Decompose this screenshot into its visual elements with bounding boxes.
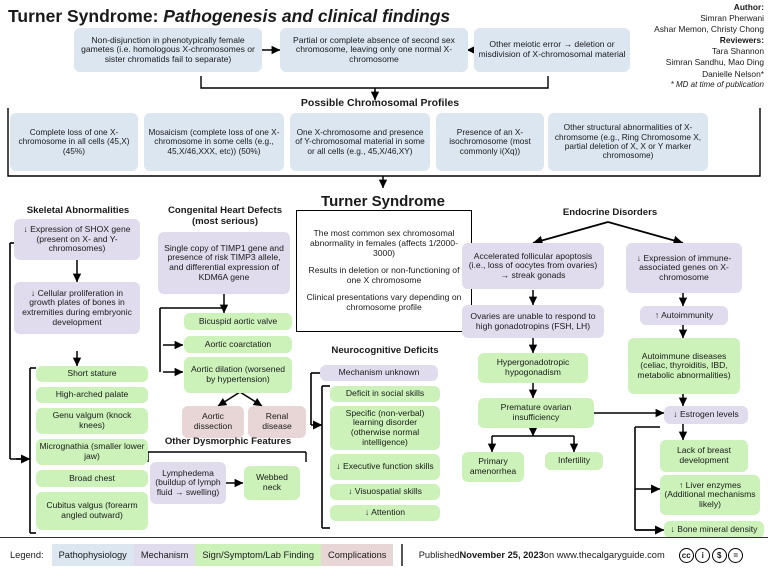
legend-bar: Legend: Pathophysiology Mechanism Sign/S… xyxy=(0,537,768,577)
cc-by-icon: i xyxy=(695,548,710,563)
reviewer-2: Simran Sandhu, Mao Ding xyxy=(654,57,764,68)
endocrine-mech-gonadotropin-response: Ovaries are unable to respond to high go… xyxy=(462,305,604,338)
cc-sa-icon: = xyxy=(728,548,743,563)
page-title: Turner Syndrome: Pathogenesis and clinic… xyxy=(8,6,450,27)
cardiac-complication-renal-text: Renal disease xyxy=(251,412,303,431)
published-suffix: on www.thecalgaryguide.com xyxy=(544,550,665,560)
center-line-3: Clinical presentations vary depending on… xyxy=(304,293,464,312)
endocrine-sign-bone-mineral-density: ↓ Bone mineral density xyxy=(664,521,764,538)
neuro-mech-unknown-text: Mechanism unknown xyxy=(339,368,420,378)
endocrine-sign-infertility: Infertility xyxy=(545,452,603,470)
skeletal-sign-broad-chest-text: Broad chest xyxy=(69,474,115,484)
endocrine-sign-hypergonadotropic-text: Hypergonadotropic hypogonadism xyxy=(481,358,585,377)
neuro-sign-attention-text: ↓ Attention xyxy=(365,508,405,518)
author-2: Ashar Memon, Christy Chong xyxy=(654,24,764,35)
cardiac-heading-line1: Congenital Heart Defects xyxy=(152,205,298,216)
legend-item-complications-text: Complications xyxy=(328,550,386,560)
legend-item-pathophysiology: Pathophysiology xyxy=(52,544,134,566)
reviewer-3: Danielle Nelson* xyxy=(654,69,764,80)
skeletal-sign-broad-chest: Broad chest xyxy=(36,470,148,487)
endocrine-sign-premature-ovarian-insufficiency: Premature ovarian insufficiency xyxy=(478,398,594,428)
skeletal-mech-proliferation-text: ↓ Cellular proliferation in growth plate… xyxy=(17,289,137,328)
endocrine-sign-autoimmune-diseases: Autoimmune diseases (celiac, thyroiditis… xyxy=(628,338,740,394)
skeletal-sign-palate: High-arched palate xyxy=(36,387,148,403)
profile-box-4-text: Presence of an X- isochromosome (most co… xyxy=(439,128,541,156)
legend-item-pathophysiology-text: Pathophysiology xyxy=(59,550,127,560)
endocrine-mech-estrogen-levels-text: ↓ Estrogen levels xyxy=(673,410,738,420)
etiology-box-absence-text: Partial or complete absence of second se… xyxy=(283,36,465,65)
legend-row: Legend: Pathophysiology Mechanism Sign/S… xyxy=(0,544,768,566)
cardiac-sign-coarctation-text: Aortic coarctation xyxy=(205,340,271,350)
endocrine-sign-liver-enzymes-text: ↑ Liver enzymes (Additional mechanisms l… xyxy=(663,481,757,510)
endocrine-mech-autoimmunity: ↑ Autoimmunity xyxy=(640,306,728,325)
profiles-heading: Possible Chromosomal Profiles xyxy=(260,97,500,109)
endocrine-sign-breast-development: Lack of breast development xyxy=(660,440,748,472)
profile-box-2-text: Mosaicism (complete loss of one X-chromo… xyxy=(147,128,281,156)
cardiac-mech-timp-text: Single copy of TIMP1 gene and presence o… xyxy=(161,244,287,283)
author-label: Author: xyxy=(734,2,764,12)
etiology-box-meiotic-error: Other meiotic error → deletion or misdiv… xyxy=(474,28,630,72)
neuro-sign-visuospatial: ↓ Visuospatial skills xyxy=(330,484,440,500)
cardiac-sign-bicuspid-valve-text: Bicuspid aortic valve xyxy=(199,317,277,327)
author-1: Simran Pherwani xyxy=(654,13,764,24)
etiology-box-absence: Partial or complete absence of second se… xyxy=(280,28,468,72)
neuro-sign-executive-function: ↓ Executive function skills xyxy=(330,454,440,480)
creative-commons-badge[interactable]: cc i $ = xyxy=(679,544,744,566)
cardiac-heading-line2: (most serious) xyxy=(152,216,298,227)
endocrine-mech-immune-genes: ↓ Expression of immune-associated genes … xyxy=(626,243,742,293)
cardiac-mech-timp: Single copy of TIMP1 gene and presence o… xyxy=(158,232,290,294)
published-prefix: Published xyxy=(419,550,460,560)
cardiac-complication-dissection: Aortic dissection xyxy=(182,406,244,438)
endocrine-sign-infertility-text: Infertility xyxy=(558,456,590,466)
profile-box-3-text: One X-chromosome and presence of Y-chrom… xyxy=(293,128,427,156)
etiology-box-nondisjunction-text: Non-disjunction in phenotypically female… xyxy=(77,36,259,65)
etiology-box-meiotic-error-text: Other meiotic error → deletion or misdiv… xyxy=(477,40,627,59)
cardiac-complication-dissection-text: Aortic dissection xyxy=(185,412,241,431)
neuro-sign-learning-disorder: Specific (non-verbal) learning disorder … xyxy=(330,406,440,450)
cardiac-complication-renal: Renal disease xyxy=(248,406,306,438)
skeletal-sign-micrognathia: Micrognathia (smaller lower jaw) xyxy=(36,439,148,465)
center-description-box: The most common sex chromosomal abnormal… xyxy=(296,210,472,332)
profile-box-4: Presence of an X- isochromosome (most co… xyxy=(436,113,544,171)
neuro-mech-unknown: Mechanism unknown xyxy=(320,365,438,381)
dysmorphic-heading: Other Dysmorphic Features xyxy=(148,436,308,447)
profile-box-5: Other structural abnormalities of X-chro… xyxy=(548,113,708,171)
skeletal-sign-short-stature: Short stature xyxy=(36,366,148,382)
legend-item-complications: Complications xyxy=(321,544,393,566)
skeletal-mech-shox-text: ↓ Expression of SHOX gene (present on X-… xyxy=(17,225,137,254)
etiology-box-nondisjunction: Non-disjunction in phenotypically female… xyxy=(74,28,262,72)
endocrine-mech-follicular-apoptosis-text: Accelerated follicular apoptosis (i.e., … xyxy=(465,252,601,281)
center-line-1: The most common sex chromosomal abnormal… xyxy=(304,229,464,258)
reviewer-1: Tara Shannon xyxy=(654,46,764,57)
legend-item-mechanism-text: Mechanism xyxy=(141,550,189,560)
endocrine-mech-autoimmunity-text: ↑ Autoimmunity xyxy=(655,311,713,321)
endocrine-sign-primary-amenorrhea: Primary amenorrhea xyxy=(462,452,524,482)
neuro-heading: Neurocognitive Deficits xyxy=(312,345,458,356)
neuro-sign-visuospatial-text: ↓ Visuospatial skills xyxy=(348,487,422,497)
published-date: November 25, 2023 xyxy=(460,550,544,560)
skeletal-sign-palate-text: High-arched palate xyxy=(56,390,129,400)
endocrine-sign-primary-amenorrhea-text: Primary amenorrhea xyxy=(465,457,521,476)
cardiac-sign-aortic-dilation: Aortic dilation (worsened by hypertensio… xyxy=(184,357,292,393)
reviewer-label: Reviewers: xyxy=(720,35,764,45)
legend-item-sign-symptom-text: Sign/Symptom/Lab Finding xyxy=(202,550,314,560)
endocrine-mech-follicular-apoptosis: Accelerated follicular apoptosis (i.e., … xyxy=(462,243,604,289)
cardiac-sign-coarctation: Aortic coarctation xyxy=(184,336,292,353)
skeletal-mech-shox: ↓ Expression of SHOX gene (present on X-… xyxy=(14,219,140,260)
author-footnote: * MD at time of publication xyxy=(654,80,764,91)
skeletal-sign-cubitus-valgus-text: Cubitus valgus (forearm angled outward) xyxy=(39,501,145,520)
neuro-sign-attention: ↓ Attention xyxy=(330,505,440,521)
legend-item-sign-symptom: Sign/Symptom/Lab Finding xyxy=(195,544,321,566)
endocrine-sign-bone-mineral-density-text: ↓ Bone mineral density xyxy=(671,525,758,535)
skeletal-sign-genu-valgum-text: Genu valgum (knock knees) xyxy=(39,411,145,430)
skeletal-sign-short-stature-text: Short stature xyxy=(67,369,116,379)
page-title-main: Turner Syndrome: xyxy=(8,6,158,26)
cc-nc-icon: $ xyxy=(712,548,727,563)
dysmorphic-mech-lymphedema-text: Lymphedema (buildup of lymph fluid → swe… xyxy=(153,469,223,498)
neuro-sign-social-skills: Deficit in social skills xyxy=(330,386,440,402)
profile-box-1: Complete loss of one X-chromosome in all… xyxy=(10,113,138,171)
legend-item-mechanism: Mechanism xyxy=(134,544,196,566)
cardiac-sign-bicuspid-valve: Bicuspid aortic valve xyxy=(184,313,292,330)
endocrine-sign-premature-ovarian-insufficiency-text: Premature ovarian insufficiency xyxy=(481,403,591,422)
neuro-sign-executive-function-text: ↓ Executive function skills xyxy=(336,462,433,472)
cardiac-sign-aortic-dilation-text: Aortic dilation (worsened by hypertensio… xyxy=(187,365,289,384)
dysmorphic-sign-webbed-neck-text: Webbed neck xyxy=(247,473,297,492)
skeletal-heading: Skeletal Abnormalities xyxy=(8,205,148,216)
page-title-sub: Pathogenesis and clinical findings xyxy=(163,6,450,26)
center-title: Turner Syndrome xyxy=(283,193,483,210)
endocrine-mech-gonadotropin-response-text: Ovaries are unable to respond to high go… xyxy=(465,312,601,331)
endocrine-mech-immune-genes-text: ↓ Expression of immune-associated genes … xyxy=(629,254,739,283)
endocrine-sign-breast-development-text: Lack of breast development xyxy=(663,446,745,465)
authors-block: Author: Simran Pherwani Ashar Memon, Chr… xyxy=(654,2,764,90)
endocrine-sign-autoimmune-diseases-text: Autoimmune diseases (celiac, thyroiditis… xyxy=(631,352,737,381)
legend-divider xyxy=(401,544,402,566)
dysmorphic-sign-webbed-neck: Webbed neck xyxy=(244,466,300,500)
neuro-sign-social-skills-text: Deficit in social skills xyxy=(346,389,424,399)
skeletal-sign-genu-valgum: Genu valgum (knock knees) xyxy=(36,408,148,434)
center-line-2: Results in deletion or non-functioning o… xyxy=(304,266,464,285)
dysmorphic-mech-lymphedema: Lymphedema (buildup of lymph fluid → swe… xyxy=(150,462,226,504)
profile-box-5-text: Other structural abnormalities of X-chro… xyxy=(551,123,705,160)
skeletal-sign-cubitus-valgus: Cubitus valgus (forearm angled outward) xyxy=(36,492,148,530)
publication-info: Published November 25, 2023 on www.theca… xyxy=(411,544,673,566)
skeletal-mech-proliferation: ↓ Cellular proliferation in growth plate… xyxy=(14,282,140,334)
neuro-sign-learning-disorder-text: Specific (non-verbal) learning disorder … xyxy=(333,409,437,448)
endocrine-sign-hypergonadotropic: Hypergonadotropic hypogonadism xyxy=(478,353,588,383)
profile-box-1-text: Complete loss of one X-chromosome in all… xyxy=(13,128,135,156)
cc-icon: cc xyxy=(679,548,694,563)
skeletal-sign-micrognathia-text: Micrognathia (smaller lower jaw) xyxy=(39,442,145,461)
endocrine-mech-estrogen-levels: ↓ Estrogen levels xyxy=(664,406,748,424)
profile-box-3: One X-chromosome and presence of Y-chrom… xyxy=(290,113,430,171)
endocrine-heading: Endocrine Disorders xyxy=(530,207,690,218)
endocrine-sign-liver-enzymes: ↑ Liver enzymes (Additional mechanisms l… xyxy=(660,475,760,515)
legend-label: Legend: xyxy=(0,544,52,566)
profile-box-2: Mosaicism (complete loss of one X-chromo… xyxy=(144,113,284,171)
